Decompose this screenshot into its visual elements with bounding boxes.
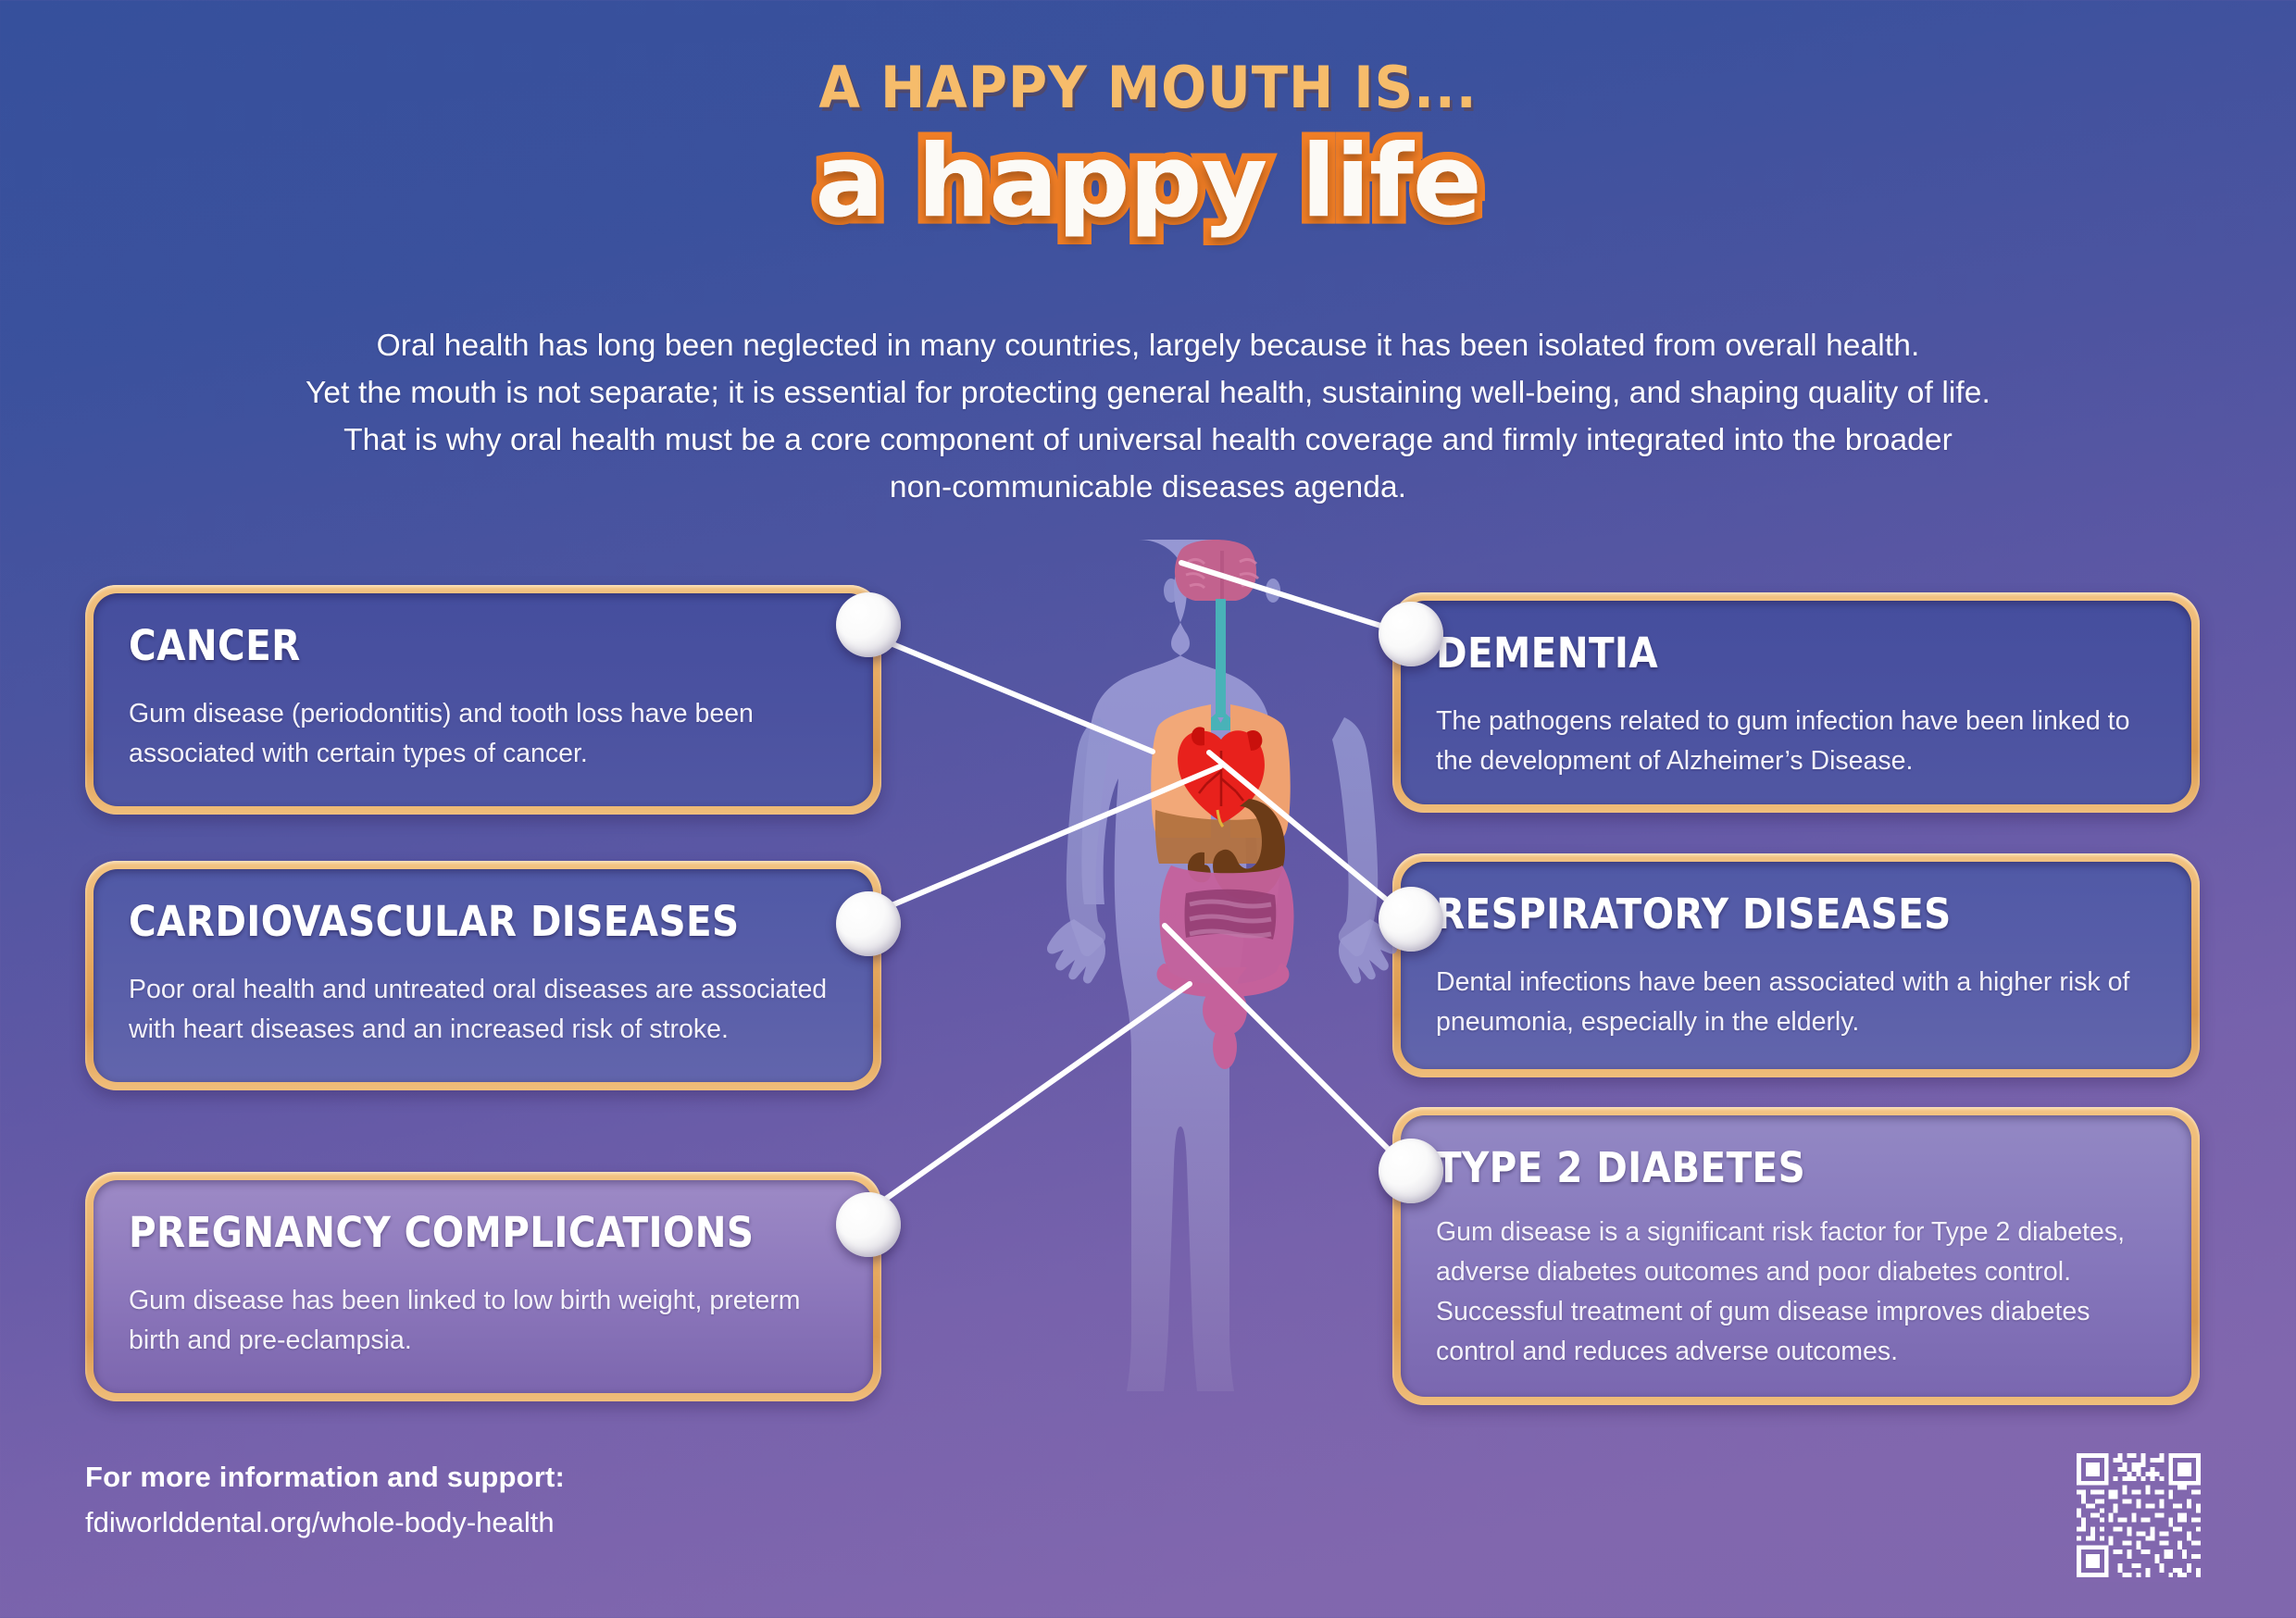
connector-dot-dementia[interactable] [1379,602,1443,666]
card-cancer[interactable]: CANCER Gum disease (periodontitis) and t… [85,585,881,815]
card-dementia-body: The pathogens related to gum infection h… [1436,702,2156,781]
card-cardiovascular[interactable]: CARDIOVASCULAR DISEASES Poor oral health… [85,861,881,1090]
card-diabetes-inner: TYPE 2 DIABETES Gum disease is a signifi… [1401,1115,2191,1397]
card-respiratory[interactable]: RESPIRATORY DISEASES Dental infections h… [1392,853,2200,1077]
footer-heading: For more information and support: [85,1461,565,1494]
card-respiratory-body: Dental infections have been associated w… [1436,963,2156,1042]
connector-dot-cardiovascular[interactable] [836,891,901,956]
card-pregnancy-title: PREGNANCY COMPLICATIONS [129,1208,767,1257]
ear-right [1266,579,1280,603]
card-dementia-inner: DEMENTIA The pathogens related to gum in… [1401,601,2191,804]
card-respiratory-title: RESPIRATORY DISEASES [1436,890,2084,939]
card-dementia[interactable]: DEMENTIA The pathogens related to gum in… [1392,592,2200,813]
card-cardiovascular-title: CARDIOVASCULAR DISEASES [129,897,767,946]
human-body-diagram [1023,532,1421,1449]
card-cardiovascular-inner: CARDIOVASCULAR DISEASES Poor oral health… [94,869,873,1082]
infographic-canvas: A HAPPY MOUTH IS... a happy life a happy… [0,0,2296,1618]
card-diabetes-title: TYPE 2 DIABETES [1436,1143,2084,1192]
connector-dot-pregnancy[interactable] [836,1192,901,1257]
intro-line-3: That is why oral health must be a core c… [231,417,2065,464]
connector-dot-diabetes[interactable] [1379,1139,1443,1203]
intro-line-1: Oral health has long been neglected in m… [231,322,2065,369]
card-dementia-title: DEMENTIA [1436,629,2084,678]
brain-organ [1175,540,1258,601]
card-cancer-body: Gum disease (periodontitis) and tooth lo… [129,694,838,774]
card-cancer-title: CANCER [129,621,767,670]
card-pregnancy-inner: PREGNANCY COMPLICATIONS Gum disease has … [94,1180,873,1393]
page-title-logotype: a happy life [0,124,2296,240]
page-kicker: A HAPPY MOUTH IS... [81,54,2215,121]
footer: For more information and support: fdiwor… [85,1461,565,1539]
card-pregnancy[interactable]: PREGNANCY COMPLICATIONS Gum disease has … [85,1172,881,1401]
connector-dot-cancer[interactable] [836,592,901,657]
qr-code[interactable] [2072,1449,2205,1582]
intro-line-4: non-communicable diseases agenda. [231,464,2065,511]
intro-line-2: Yet the mouth is not separate; it is ess… [231,369,2065,417]
footer-url[interactable]: fdiworlddental.org/whole-body-health [85,1506,565,1539]
card-cardiovascular-body: Poor oral health and untreated oral dise… [129,970,838,1050]
intro-paragraph: Oral health has long been neglected in m… [231,322,2065,511]
connector-dot-respiratory[interactable] [1379,887,1443,952]
card-pregnancy-body: Gum disease has been linked to low birth… [129,1281,838,1361]
card-cancer-inner: CANCER Gum disease (periodontitis) and t… [94,593,873,806]
card-respiratory-inner: RESPIRATORY DISEASES Dental infections h… [1401,862,2191,1069]
card-diabetes-body: Gum disease is a significant risk factor… [1436,1213,2156,1372]
card-diabetes[interactable]: TYPE 2 DIABETES Gum disease is a signifi… [1392,1107,2200,1405]
